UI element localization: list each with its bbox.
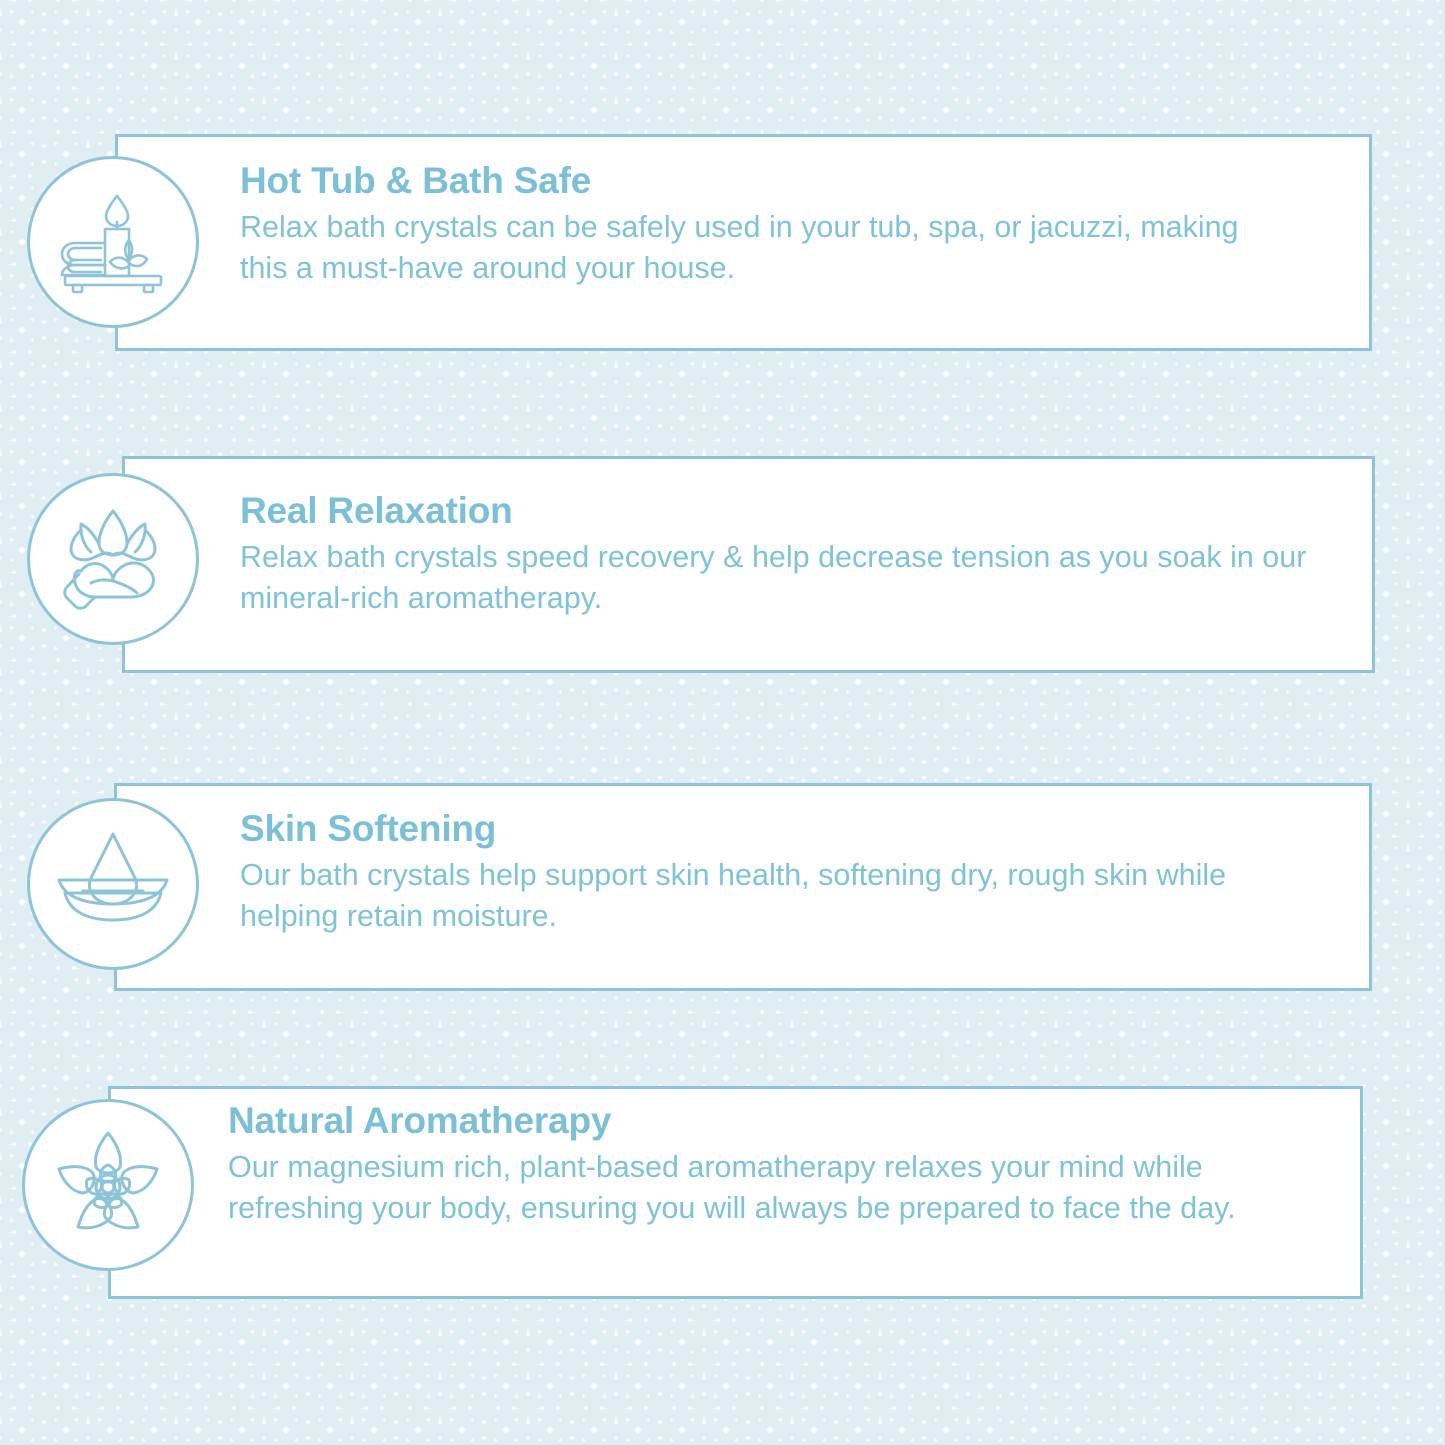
- feature-title: Real Relaxation: [240, 492, 1310, 529]
- feature-title: Hot Tub & Bath Safe: [240, 162, 1240, 199]
- candle-towels-tray-icon: [27, 156, 199, 328]
- feature-text-skin-softening: Skin Softening Our bath crystals help su…: [240, 810, 1240, 936]
- feature-text-real-relaxation: Real Relaxation Relax bath crystals spee…: [240, 492, 1310, 618]
- feature-body: Our bath crystals help support skin heal…: [240, 855, 1240, 936]
- feature-text-hot-tub-bath-safe: Hot Tub & Bath Safe Relax bath crystals …: [240, 162, 1240, 288]
- feature-body: Relax bath crystals can be safely used i…: [240, 207, 1240, 288]
- feature-title: Natural Aromatherapy: [228, 1102, 1258, 1139]
- feature-title: Skin Softening: [240, 810, 1240, 847]
- hand-holding-lotus-icon: [27, 473, 199, 645]
- feature-body: Our magnesium rich, plant-based aromathe…: [228, 1147, 1258, 1228]
- five-petal-flower-icon: [22, 1099, 194, 1271]
- feature-body: Relax bath crystals speed recovery & hel…: [240, 537, 1310, 618]
- feature-text-natural-aromatherapy: Natural Aromatherapy Our magnesium rich,…: [228, 1102, 1258, 1228]
- water-droplet-leaves-icon: [27, 798, 199, 970]
